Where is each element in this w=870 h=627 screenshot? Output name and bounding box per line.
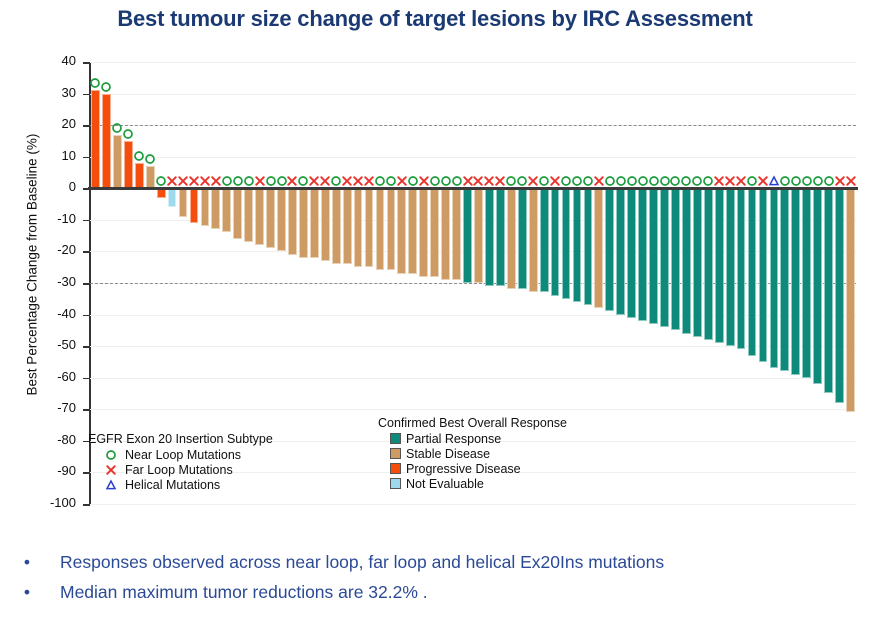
cross-marker bbox=[845, 175, 857, 187]
y-tick-label: -10 bbox=[57, 211, 76, 226]
cross-marker bbox=[363, 175, 375, 187]
waterfall-bar[interactable] bbox=[759, 188, 768, 362]
legend-item-subtype[interactable]: Far Loop Mutations bbox=[88, 462, 273, 477]
gridline bbox=[90, 94, 856, 95]
waterfall-bar[interactable] bbox=[704, 188, 713, 340]
waterfall-bar[interactable] bbox=[616, 188, 625, 314]
cross-marker bbox=[527, 175, 539, 187]
cross-marker bbox=[757, 175, 769, 187]
waterfall-bar[interactable] bbox=[573, 188, 582, 302]
cross-marker bbox=[177, 175, 189, 187]
zero-baseline bbox=[88, 187, 858, 190]
waterfall-bar[interactable] bbox=[780, 188, 789, 371]
waterfall-bar[interactable] bbox=[693, 188, 702, 336]
y-tick-label: -60 bbox=[57, 369, 76, 384]
page-title: Best tumour size change of target lesion… bbox=[0, 6, 870, 32]
legend-item-label: Stable Disease bbox=[406, 447, 490, 461]
legend-item-label: Partial Response bbox=[406, 432, 501, 446]
waterfall-bar[interactable] bbox=[354, 188, 363, 267]
circle-marker bbox=[779, 175, 791, 187]
cross-marker bbox=[472, 175, 484, 187]
cross-marker bbox=[834, 175, 846, 187]
legend-item-label: Progressive Disease bbox=[406, 462, 521, 476]
waterfall-bar[interactable] bbox=[507, 188, 516, 289]
y-tick-label: -100 bbox=[50, 495, 76, 510]
bullet-dot-icon: • bbox=[16, 582, 38, 603]
y-tick-mark bbox=[83, 94, 90, 96]
circle-marker bbox=[823, 175, 835, 187]
waterfall-bar[interactable] bbox=[419, 188, 428, 276]
circle-marker bbox=[648, 175, 660, 187]
circle-marker bbox=[440, 175, 452, 187]
waterfall-bar[interactable] bbox=[387, 188, 396, 270]
waterfall-bar[interactable] bbox=[649, 188, 658, 324]
waterfall-bar[interactable] bbox=[190, 188, 199, 223]
waterfall-bar[interactable] bbox=[91, 90, 100, 188]
cross-marker bbox=[352, 175, 364, 187]
circle-marker bbox=[669, 175, 681, 187]
circle-marker bbox=[538, 175, 550, 187]
circle-marker bbox=[297, 175, 309, 187]
legend-subtype-title: EGFR Exon 20 Insertion Subtype bbox=[88, 432, 273, 446]
circle-marker bbox=[221, 175, 233, 187]
y-tick-mark bbox=[83, 504, 90, 506]
circle-marker bbox=[680, 175, 692, 187]
y-tick-label: -70 bbox=[57, 400, 76, 415]
waterfall-bar[interactable] bbox=[332, 188, 341, 264]
waterfall-bar[interactable] bbox=[452, 188, 461, 280]
bullet-text: Median maximum tumor reductions are 32.2… bbox=[60, 582, 428, 603]
circle-marker bbox=[232, 175, 244, 187]
legend-item-subtype[interactable]: Helical Mutations bbox=[88, 477, 273, 492]
waterfall-bar[interactable] bbox=[244, 188, 253, 242]
circle-marker bbox=[265, 175, 277, 187]
circle-marker bbox=[505, 175, 517, 187]
cross-marker bbox=[188, 175, 200, 187]
circle-marker bbox=[516, 175, 528, 187]
waterfall-bar[interactable] bbox=[715, 188, 724, 343]
bullet-text: Responses observed across near loop, far… bbox=[60, 552, 664, 573]
waterfall-bar[interactable] bbox=[562, 188, 571, 299]
waterfall-bar[interactable] bbox=[376, 188, 385, 270]
waterfall-bar[interactable] bbox=[540, 188, 549, 292]
bullet-item: •Responses observed across near loop, fa… bbox=[0, 552, 870, 573]
legend-item-label: Far Loop Mutations bbox=[125, 463, 233, 477]
circle-marker bbox=[89, 77, 101, 89]
y-tick-label: -90 bbox=[57, 463, 76, 478]
circle-marker bbox=[626, 175, 638, 187]
waterfall-bar[interactable] bbox=[682, 188, 691, 333]
circle-marker bbox=[243, 175, 255, 187]
circle-marker bbox=[100, 449, 122, 461]
y-tick-mark bbox=[83, 346, 90, 348]
legend-color-swatch bbox=[390, 448, 401, 459]
circle-marker bbox=[615, 175, 627, 187]
circle-marker bbox=[111, 122, 123, 134]
cross-marker bbox=[735, 175, 747, 187]
waterfall-bar[interactable] bbox=[299, 188, 308, 257]
waterfall-bar[interactable] bbox=[518, 188, 527, 289]
circle-marker bbox=[571, 175, 583, 187]
waterfall-bar[interactable] bbox=[671, 188, 680, 330]
circle-marker bbox=[374, 175, 386, 187]
waterfall-bar[interactable] bbox=[802, 188, 811, 377]
waterfall-bar[interactable] bbox=[485, 188, 494, 286]
bullet-item: •Median maximum tumor reductions are 32.… bbox=[0, 582, 870, 603]
cross-marker bbox=[319, 175, 331, 187]
waterfall-bar[interactable] bbox=[529, 188, 538, 292]
y-tick-label: 0 bbox=[69, 179, 76, 194]
waterfall-bar[interactable] bbox=[266, 188, 275, 248]
waterfall-bar[interactable] bbox=[441, 188, 450, 280]
y-tick-mark bbox=[83, 157, 90, 159]
legend-color-swatch bbox=[390, 463, 401, 474]
y-tick-mark bbox=[83, 220, 90, 222]
gridline bbox=[90, 157, 856, 158]
waterfall-bar[interactable] bbox=[135, 163, 144, 188]
triangle-marker bbox=[100, 479, 122, 491]
waterfall-bar[interactable] bbox=[102, 94, 111, 189]
waterfall-bar[interactable] bbox=[638, 188, 647, 321]
legend-item-subtype[interactable]: Near Loop Mutations bbox=[88, 447, 273, 462]
waterfall-bar[interactable] bbox=[551, 188, 560, 295]
waterfall-bar[interactable] bbox=[277, 188, 286, 251]
legend-item-response[interactable]: Stable Disease bbox=[378, 446, 567, 461]
gridline bbox=[90, 62, 856, 63]
waterfall-bar[interactable] bbox=[146, 166, 155, 188]
cross-marker bbox=[549, 175, 561, 187]
cross-marker bbox=[724, 175, 736, 187]
circle-marker bbox=[560, 175, 572, 187]
waterfall-bar[interactable] bbox=[397, 188, 406, 273]
waterfall-bar[interactable] bbox=[463, 188, 472, 283]
y-tick-label: -40 bbox=[57, 306, 76, 321]
waterfall-bar[interactable] bbox=[627, 188, 636, 317]
cross-marker bbox=[210, 175, 222, 187]
cross-marker bbox=[100, 464, 122, 476]
cross-marker bbox=[308, 175, 320, 187]
y-tick-mark bbox=[83, 251, 90, 253]
y-tick-label: -50 bbox=[57, 337, 76, 352]
cross-marker bbox=[462, 175, 474, 187]
circle-marker bbox=[790, 175, 802, 187]
legend-response-title: Confirmed Best Overall Response bbox=[378, 416, 567, 430]
circle-marker bbox=[330, 175, 342, 187]
y-tick-label: 40 bbox=[62, 53, 76, 68]
cross-marker bbox=[483, 175, 495, 187]
gridline bbox=[90, 378, 856, 379]
bullet-list: •Responses observed across near loop, fa… bbox=[0, 552, 870, 612]
gridline bbox=[90, 504, 856, 505]
cross-marker bbox=[494, 175, 506, 187]
y-tick-mark bbox=[83, 125, 90, 127]
circle-marker bbox=[144, 153, 156, 165]
y-tick-label: 20 bbox=[62, 116, 76, 131]
waterfall-bar[interactable] bbox=[594, 188, 603, 308]
legend-item-response[interactable]: Progressive Disease bbox=[378, 461, 567, 476]
y-tick-label: 30 bbox=[62, 85, 76, 100]
circle-marker bbox=[451, 175, 463, 187]
triangle-marker bbox=[768, 175, 780, 187]
waterfall-bar[interactable] bbox=[748, 188, 757, 355]
circle-marker bbox=[276, 175, 288, 187]
legend-item-label: Near Loop Mutations bbox=[125, 448, 241, 462]
waterfall-bar[interactable] bbox=[113, 135, 122, 189]
cross-marker bbox=[341, 175, 353, 187]
waterfall-bar[interactable] bbox=[310, 188, 319, 257]
circle-marker bbox=[385, 175, 397, 187]
y-tick-label: 10 bbox=[62, 148, 76, 163]
waterfall-bar[interactable] bbox=[168, 188, 177, 207]
circle-marker bbox=[407, 175, 419, 187]
y-tick-mark bbox=[83, 62, 90, 64]
waterfall-bar[interactable] bbox=[211, 188, 220, 229]
legend-item-response[interactable]: Partial Response bbox=[378, 431, 567, 446]
cross-marker bbox=[396, 175, 408, 187]
waterfall-bar[interactable] bbox=[496, 188, 505, 286]
waterfall-bar[interactable] bbox=[201, 188, 210, 226]
circle-marker bbox=[691, 175, 703, 187]
waterfall-bar[interactable] bbox=[824, 188, 833, 393]
legend-item-label: Not Evaluable bbox=[406, 477, 484, 491]
legend-subtype: EGFR Exon 20 Insertion Subtype Near Loop… bbox=[88, 432, 273, 492]
waterfall-bar[interactable] bbox=[430, 188, 439, 276]
y-tick-mark bbox=[83, 283, 90, 285]
waterfall-bar[interactable] bbox=[124, 141, 133, 188]
cross-marker bbox=[418, 175, 430, 187]
circle-marker bbox=[604, 175, 616, 187]
y-tick-mark bbox=[83, 315, 90, 317]
waterfall-bar[interactable] bbox=[660, 188, 669, 327]
waterfall-bar[interactable] bbox=[233, 188, 242, 239]
cross-marker bbox=[713, 175, 725, 187]
circle-marker bbox=[702, 175, 714, 187]
cross-marker bbox=[593, 175, 605, 187]
cross-marker bbox=[166, 175, 178, 187]
waterfall-bar[interactable] bbox=[222, 188, 231, 232]
waterfall-bar[interactable] bbox=[737, 188, 746, 349]
circle-marker bbox=[429, 175, 441, 187]
waterfall-bar[interactable] bbox=[288, 188, 297, 254]
cross-marker bbox=[199, 175, 211, 187]
gridline bbox=[90, 409, 856, 410]
y-tick-label: -20 bbox=[57, 242, 76, 257]
cross-marker bbox=[254, 175, 266, 187]
circle-marker bbox=[100, 81, 112, 93]
waterfall-bar[interactable] bbox=[365, 188, 374, 267]
waterfall-bar[interactable] bbox=[813, 188, 822, 384]
waterfall-bar[interactable] bbox=[770, 188, 779, 368]
waterfall-bar[interactable] bbox=[835, 188, 844, 403]
circle-marker bbox=[582, 175, 594, 187]
y-tick-label: -30 bbox=[57, 274, 76, 289]
waterfall-bar[interactable] bbox=[726, 188, 735, 346]
circle-marker bbox=[155, 175, 167, 187]
waterfall-bar[interactable] bbox=[321, 188, 330, 261]
y-tick-label: -80 bbox=[57, 432, 76, 447]
waterfall-bar[interactable] bbox=[605, 188, 614, 311]
y-axis-label: Best Percentage Change from Baseline (%) bbox=[25, 55, 40, 475]
legend-color-swatch bbox=[390, 433, 401, 444]
circle-marker bbox=[812, 175, 824, 187]
cross-marker bbox=[286, 175, 298, 187]
waterfall-bar[interactable] bbox=[408, 188, 417, 273]
circle-marker bbox=[122, 128, 134, 140]
waterfall-bar[interactable] bbox=[343, 188, 352, 264]
waterfall-bar[interactable] bbox=[474, 188, 483, 283]
circle-marker bbox=[637, 175, 649, 187]
circle-marker bbox=[746, 175, 758, 187]
circle-marker bbox=[801, 175, 813, 187]
circle-marker bbox=[659, 175, 671, 187]
legend-response: Confirmed Best Overall Response Partial … bbox=[378, 416, 567, 491]
reference-line bbox=[90, 125, 856, 126]
legend-item-label: Helical Mutations bbox=[125, 478, 220, 492]
y-tick-mark bbox=[83, 409, 90, 411]
legend-color-swatch bbox=[390, 478, 401, 489]
waterfall-bar[interactable] bbox=[584, 188, 593, 305]
bullet-dot-icon: • bbox=[16, 552, 38, 573]
waterfall-bar[interactable] bbox=[791, 188, 800, 374]
waterfall-bar[interactable] bbox=[255, 188, 264, 245]
waterfall-bar[interactable] bbox=[179, 188, 188, 216]
waterfall-bar[interactable] bbox=[846, 188, 855, 412]
legend-item-response[interactable]: Not Evaluable bbox=[378, 476, 567, 491]
y-tick-mark bbox=[83, 378, 90, 380]
